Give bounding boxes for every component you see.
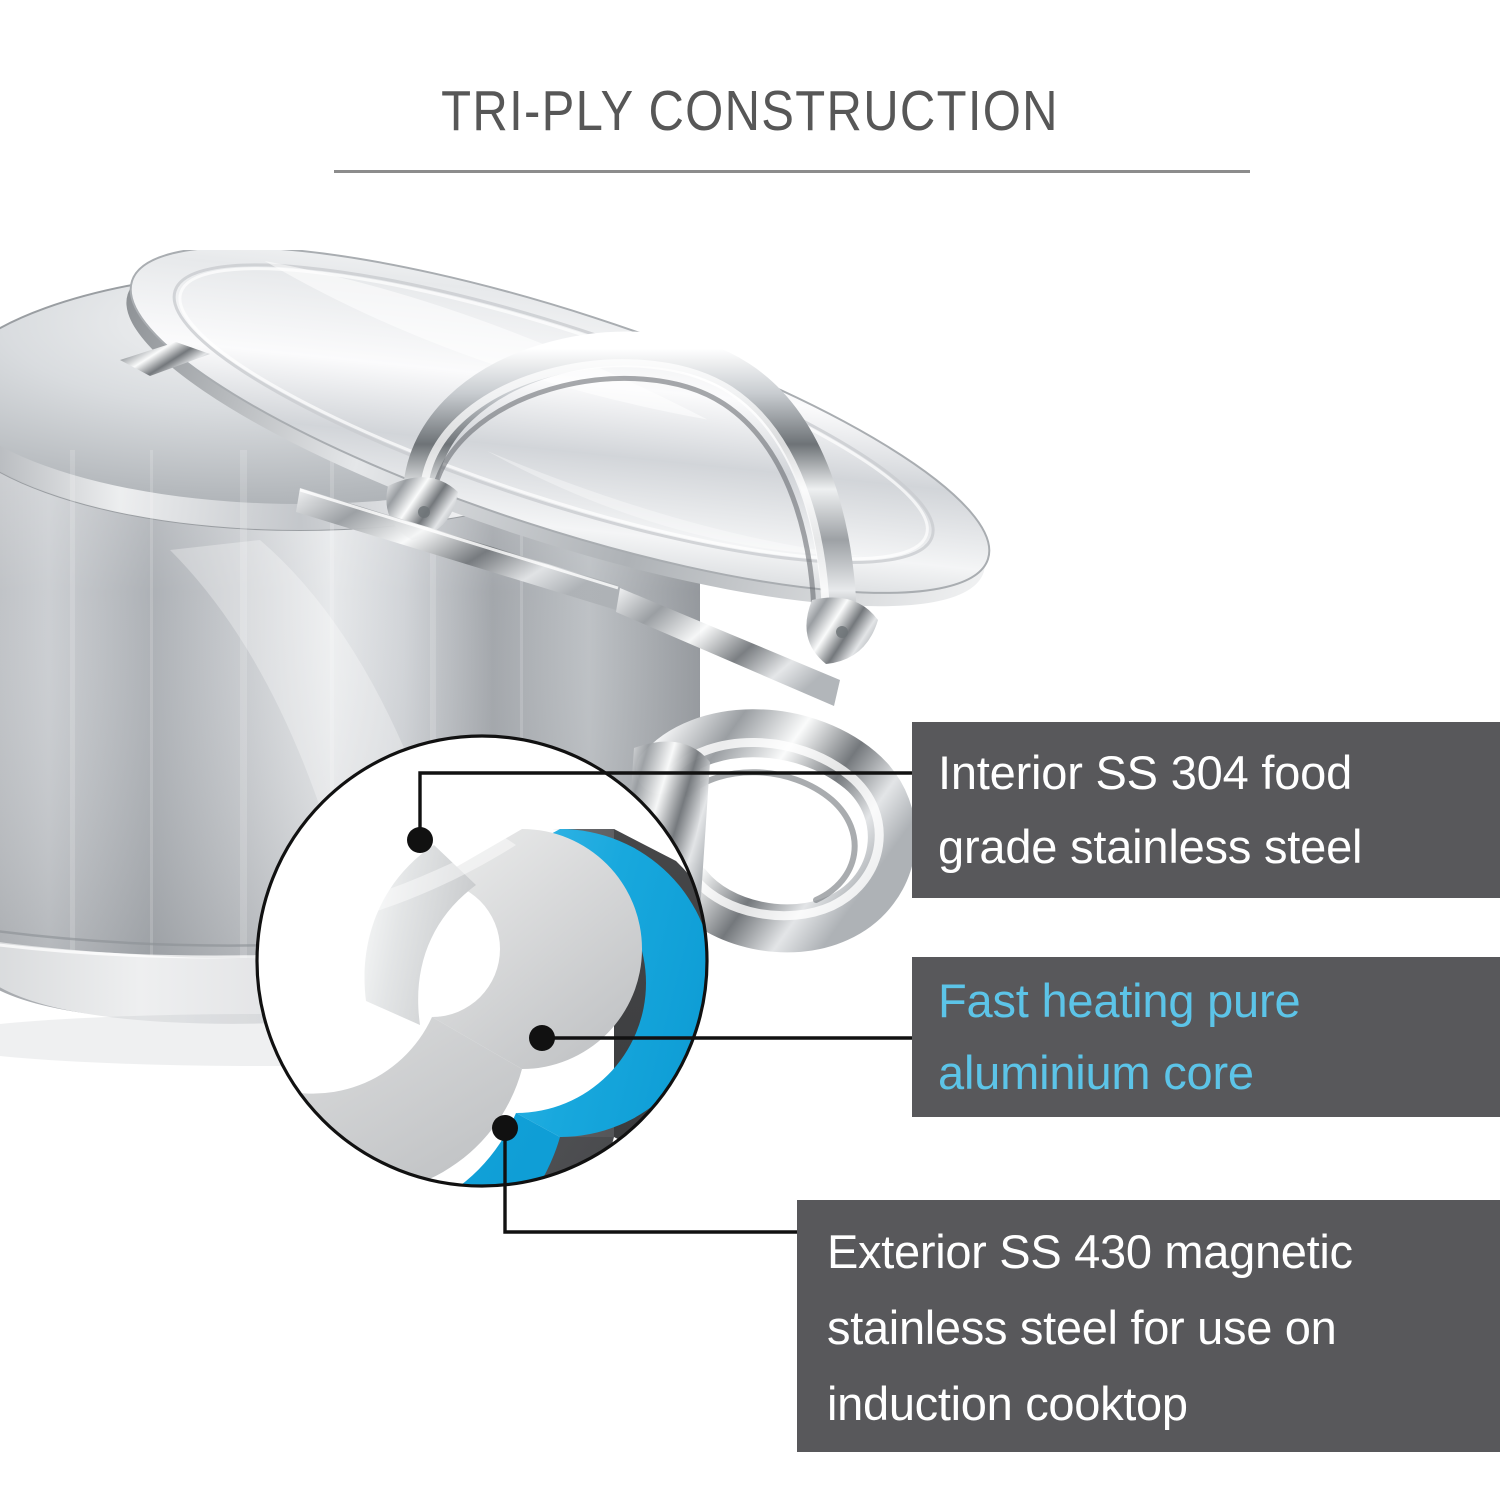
- callout-exterior-line-2: stainless steel for use on: [827, 1290, 1500, 1366]
- title-underline: [334, 170, 1250, 173]
- callout-core: Fast heating pure aluminium core: [912, 957, 1500, 1117]
- callout-core-line-1: Fast heating pure: [938, 965, 1500, 1037]
- infographic-page: TRI-PLY CONSTRUCTION: [0, 0, 1500, 1500]
- callout-core-line-2: aluminium core: [938, 1037, 1500, 1109]
- callout-exterior-line-3: induction cooktop: [827, 1366, 1500, 1442]
- page-title: TRI-PLY CONSTRUCTION: [105, 78, 1395, 144]
- callout-interior-line-1: Interior SS 304 food: [938, 736, 1500, 810]
- callout-interior: Interior SS 304 food grade stainless ste…: [912, 722, 1500, 898]
- tri-ply-cutaway-diagram: [254, 733, 710, 1189]
- callout-exterior-line-1: Exterior SS 430 magnetic: [827, 1214, 1500, 1290]
- callout-exterior: Exterior SS 430 magnetic stainless steel…: [797, 1200, 1500, 1452]
- callout-interior-line-2: grade stainless steel: [938, 810, 1500, 884]
